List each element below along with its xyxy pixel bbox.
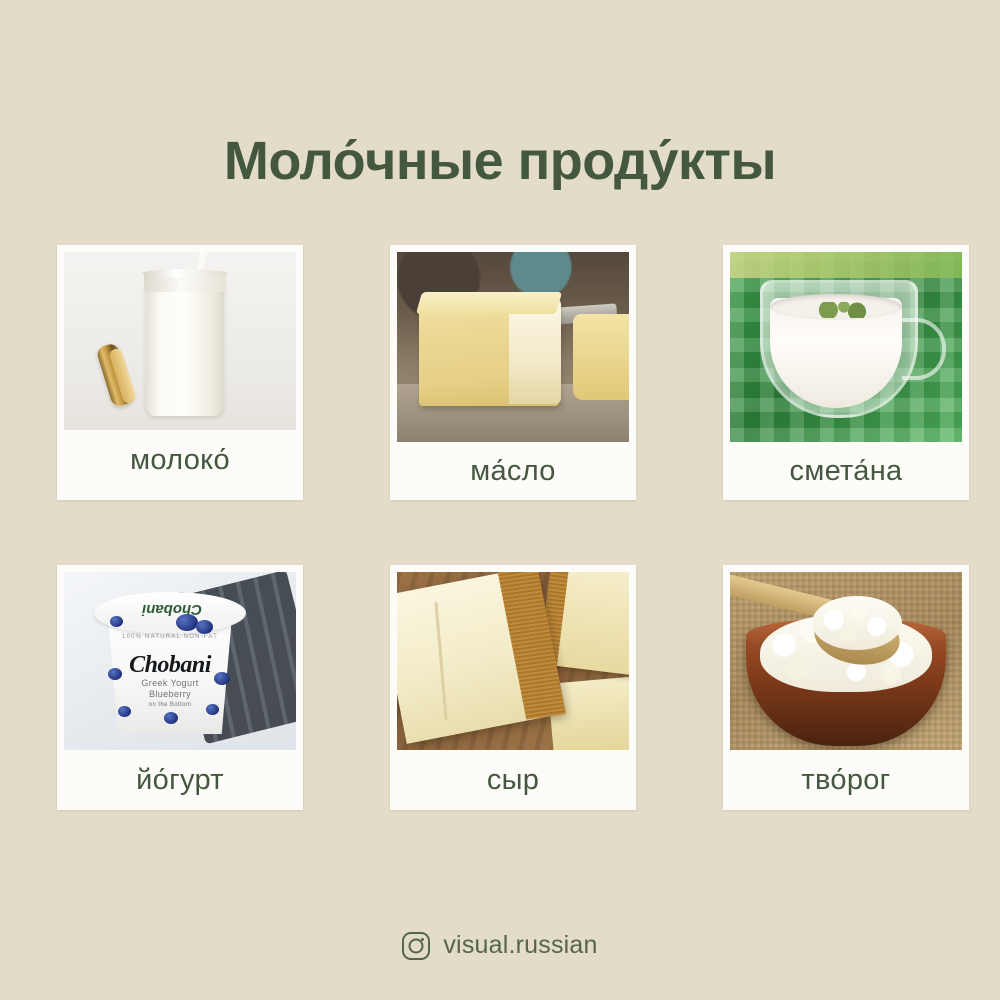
- yogurt-line2-text: Blueberry: [102, 689, 238, 699]
- blueberry-graphic: [214, 672, 230, 685]
- jar-rim-shape: [142, 269, 228, 278]
- blueberry-graphic: [206, 704, 219, 715]
- blueberry-graphic: [110, 616, 123, 627]
- butter-block-photo: [397, 252, 629, 442]
- jar-body-shape: [146, 278, 224, 416]
- footer: visual.russian: [0, 931, 1000, 960]
- product-label: йо́гурт: [64, 750, 296, 810]
- product-card-maslo[interactable]: ма́сло: [390, 245, 636, 500]
- product-card-yogurt[interactable]: Chobani 100% NATURAL NON-FAT Chobani Gre…: [57, 565, 303, 810]
- page-title: Моло́чные проду́кты: [0, 132, 1000, 191]
- instagram-handle[interactable]: visual.russian: [443, 931, 597, 960]
- product-card-grid: молоко́ ма́сло смета́на: [57, 245, 943, 810]
- dill-sprig-shape: [818, 302, 870, 318]
- yogurt-lid-brand-text: Chobani: [126, 600, 218, 618]
- cheese-wedges-photo: [397, 572, 629, 750]
- product-card-smetana[interactable]: смета́на: [723, 245, 969, 500]
- product-card-tvorog[interactable]: тво́рог: [723, 565, 969, 810]
- yogurt-cup-photo: Chobani 100% NATURAL NON-FAT Chobani Gre…: [64, 572, 296, 750]
- blueberry-graphic: [108, 668, 122, 680]
- product-card-syr[interactable]: сыр: [390, 565, 636, 810]
- cheese-wedge-front-shape: [397, 572, 564, 744]
- product-label: ма́сло: [397, 442, 629, 500]
- instagram-icon[interactable]: [402, 932, 430, 960]
- butter-top-shape: [416, 292, 562, 314]
- product-label: тво́рог: [730, 750, 962, 810]
- background-strip-shape: [730, 252, 962, 278]
- product-label: сыр: [397, 750, 629, 810]
- yogurt-rim-text: 100% NATURAL NON-FAT: [110, 634, 230, 640]
- blueberry-graphic: [196, 620, 213, 634]
- milk-jar-photo: [64, 252, 296, 430]
- cottage-cheese-photo: [730, 572, 962, 750]
- blueberry-graphic: [176, 614, 198, 631]
- product-card-moloko[interactable]: молоко́: [57, 245, 303, 500]
- product-label: молоко́: [64, 430, 296, 490]
- spoon-curd-shape: [812, 596, 902, 650]
- blueberry-graphic: [118, 706, 131, 717]
- product-label: смета́на: [730, 442, 962, 500]
- sour-cream-cup-photo: [730, 252, 962, 442]
- cheese-crack-shape: [434, 602, 447, 720]
- butter-chunk-shape: [573, 314, 629, 400]
- butter-cut-face-shape: [509, 300, 561, 404]
- blueberry-graphic: [164, 712, 178, 724]
